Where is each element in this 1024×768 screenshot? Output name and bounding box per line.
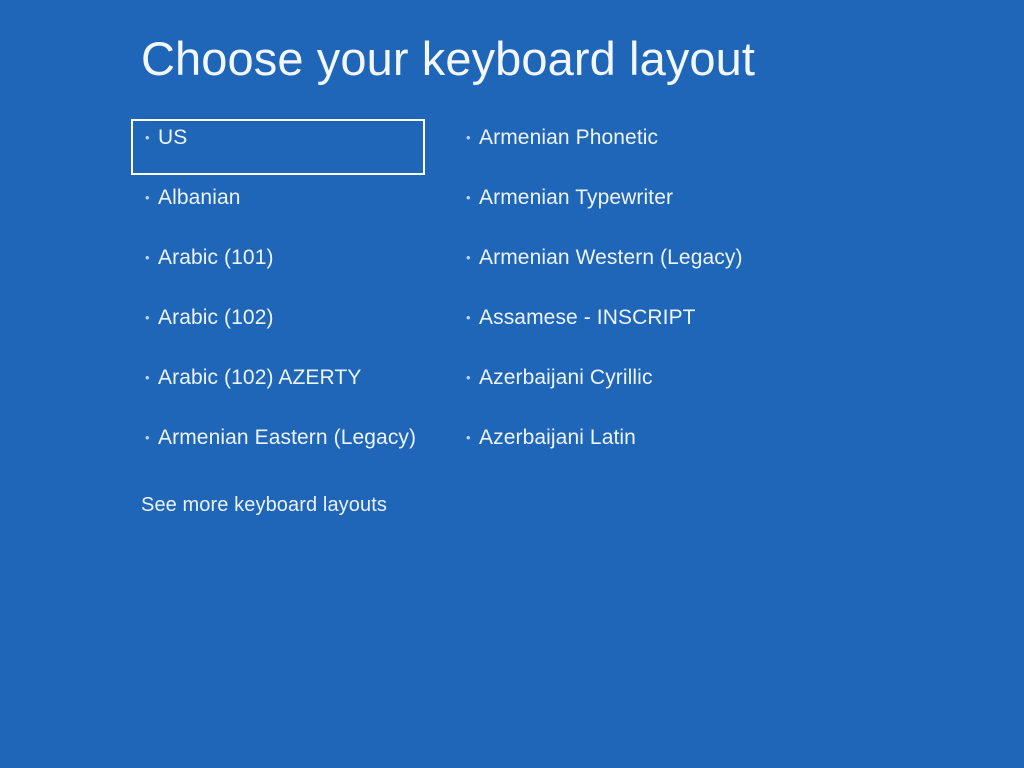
- bullet-icon: •: [466, 131, 478, 144]
- keyboard-layout-option-armenian-typewriter[interactable]: •Armenian Typewriter: [455, 179, 775, 235]
- keyboard-layout-option-label: Armenian Eastern (Legacy): [158, 425, 416, 451]
- keyboard-layout-option-label: Assamese - INSCRIPT: [479, 305, 696, 331]
- keyboard-layout-option-azerbaijani-cyrillic[interactable]: •Azerbaijani Cyrillic: [455, 359, 775, 415]
- keyboard-layout-option-label: Armenian Western (Legacy): [479, 245, 743, 271]
- bullet-icon: •: [145, 191, 157, 204]
- keyboard-layout-option-label: Albanian: [158, 185, 241, 211]
- keyboard-layout-option-label: US: [158, 125, 187, 151]
- keyboard-layout-option-label: Arabic (101): [158, 245, 274, 271]
- bullet-icon: •: [145, 131, 157, 144]
- keyboard-layout-option-label: Azerbaijani Cyrillic: [479, 365, 653, 391]
- bullet-icon: •: [145, 431, 157, 444]
- bullet-icon: •: [466, 191, 478, 204]
- keyboard-layout-option-arabic-101[interactable]: •Arabic (101): [131, 239, 425, 295]
- keyboard-layout-option-armenian-phonetic[interactable]: •Armenian Phonetic: [455, 119, 775, 175]
- page-title: Choose your keyboard layout: [141, 33, 755, 85]
- keyboard-layout-screen: Choose your keyboard layout •US•Albanian…: [0, 0, 1024, 768]
- keyboard-layout-option-label: Arabic (102): [158, 305, 274, 331]
- keyboard-layout-option-label: Armenian Phonetic: [479, 125, 658, 151]
- bullet-icon: •: [466, 371, 478, 384]
- bullet-icon: •: [466, 311, 478, 324]
- bullet-icon: •: [145, 311, 157, 324]
- keyboard-layout-option-label: Azerbaijani Latin: [479, 425, 636, 451]
- keyboard-layout-option-arabic-102[interactable]: •Arabic (102): [131, 299, 425, 355]
- keyboard-layout-option-azerbaijani-latin[interactable]: •Azerbaijani Latin: [455, 419, 775, 475]
- keyboard-layout-option-armenian-western-legacy[interactable]: •Armenian Western (Legacy): [455, 239, 775, 295]
- keyboard-layout-option-armenian-eastern-legacy[interactable]: •Armenian Eastern (Legacy): [131, 419, 425, 475]
- bullet-icon: •: [145, 251, 157, 264]
- keyboard-layout-option-albanian[interactable]: •Albanian: [131, 179, 425, 235]
- keyboard-layout-option-label: Armenian Typewriter: [479, 185, 673, 211]
- bullet-icon: •: [466, 251, 478, 264]
- keyboard-layout-option-assamese-inscript[interactable]: •Assamese - INSCRIPT: [455, 299, 775, 355]
- see-more-keyboard-layouts-link[interactable]: See more keyboard layouts: [141, 492, 387, 518]
- keyboard-layout-option-label: Arabic (102) AZERTY: [158, 365, 361, 391]
- keyboard-layout-option-arabic-102-azerty[interactable]: •Arabic (102) AZERTY: [131, 359, 425, 415]
- bullet-icon: •: [466, 431, 478, 444]
- keyboard-layout-option-us[interactable]: •US: [131, 119, 425, 175]
- bullet-icon: •: [145, 371, 157, 384]
